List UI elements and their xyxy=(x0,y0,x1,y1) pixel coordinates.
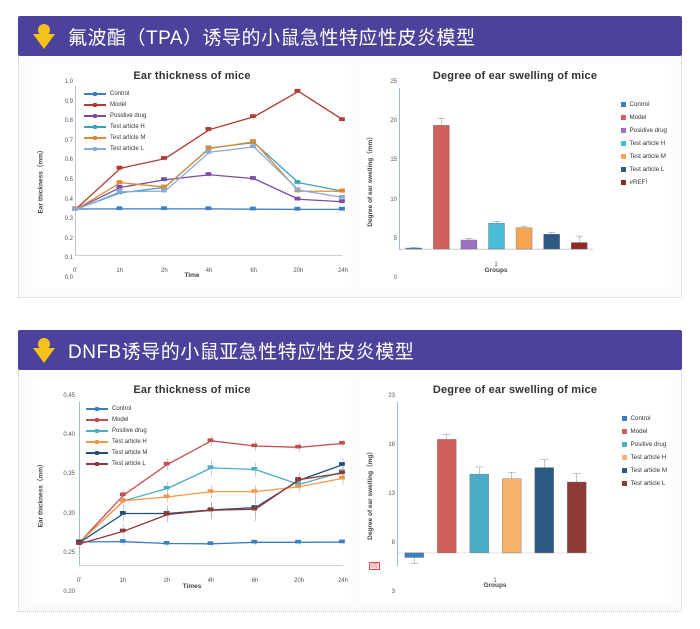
legend-label: Posidive drug xyxy=(630,127,668,134)
legend-color-swatch xyxy=(622,442,627,447)
legend-label: Control xyxy=(630,101,650,108)
legend-label: Positive drug xyxy=(112,428,147,434)
location-pin-icon xyxy=(32,23,56,49)
chart-title: Ear thickness of mice xyxy=(33,384,351,396)
section-dnfb-subacute: DNFB诱导的小鼠亚急性特应性皮炎模型 Ear thickness of mic… xyxy=(18,330,682,612)
legend-item: Control xyxy=(621,98,668,111)
x-axis-label: Time xyxy=(33,272,351,279)
legend-line-swatch xyxy=(86,408,108,410)
series-test-article-l xyxy=(76,467,345,546)
chart-tpa-line: Ear thickness of mice Ear thickness（mm） … xyxy=(33,64,351,289)
chart-legend: ControlModelPositive drugTest article HT… xyxy=(622,412,667,490)
bar-model xyxy=(437,434,456,553)
section-tpa-acute: 氟波酯（TPA）诱导的小鼠急性特应性皮炎模型 Ear thickness of … xyxy=(18,16,682,298)
chart-legend: ControlModelPositive drugTest article HT… xyxy=(86,403,147,469)
legend-label: Test article H xyxy=(110,124,145,130)
legend-label: Model xyxy=(630,114,647,121)
legend-item: Test article H xyxy=(86,436,147,447)
legend-color-swatch xyxy=(621,128,626,133)
chart-tpa-bar: Degree of ear swelling of mice Degree of… xyxy=(359,64,671,289)
legend-item: Model xyxy=(622,425,667,438)
legend-color-swatch xyxy=(621,154,626,159)
x-axis-label: Groups xyxy=(399,267,593,274)
chart-dnfb-bar: Degree of ear swelling of mice Degree of… xyxy=(359,378,671,603)
legend-item: Control xyxy=(84,88,146,99)
y-axis-ticks: 0.00.10.20.30.40.50.60.70.80.91.0 xyxy=(47,82,73,278)
chart-legend: ControlModelPosidive drugTest article HT… xyxy=(84,88,146,154)
chart-title: Degree of ear swelling of mice xyxy=(359,384,671,396)
legend-item: #REF! xyxy=(621,176,668,189)
legend-line-swatch xyxy=(84,126,106,128)
y-tick-label: 1.0 xyxy=(65,79,73,85)
page-root: 氟波酯（TPA）诱导的小鼠急性特应性皮炎模型 Ear thickness of … xyxy=(0,0,700,629)
plot-area: ControlModelPositive drugTest article HT… xyxy=(79,402,343,566)
plot-area: ControlModelPosidive drugTest article HT… xyxy=(75,86,343,256)
section-panel: Ear thickness of mice Ear thickness（mm） … xyxy=(18,370,682,612)
legend-label: Test article L xyxy=(631,480,666,487)
legend-color-swatch xyxy=(622,429,627,434)
legend-label: Model xyxy=(631,428,648,435)
legend-color-swatch xyxy=(622,455,627,460)
y-tick-label: 0.6 xyxy=(65,157,73,163)
legend-item: Test article L xyxy=(621,163,668,176)
bar-control xyxy=(405,553,424,563)
plot-area xyxy=(399,88,593,250)
legend-item: Control xyxy=(622,412,667,425)
plot-area xyxy=(397,402,593,566)
legend-item: Test article M xyxy=(621,150,668,163)
legend-label: Test article M xyxy=(110,135,145,141)
y-axis-label: Ear thickness（mm） xyxy=(31,82,47,278)
section-header: DNFB诱导的小鼠亚急性特应性皮炎模型 xyxy=(18,330,682,370)
legend-color-swatch xyxy=(621,115,626,120)
y-tick-label: 18 xyxy=(388,442,395,448)
legend-item: Test article M xyxy=(86,447,147,458)
legend-color-swatch xyxy=(621,102,626,107)
section-panel: Ear thickness of mice Ear thickness（mm） … xyxy=(18,56,682,298)
series-test-article-l xyxy=(72,144,345,211)
legend-line-swatch xyxy=(86,430,108,432)
legend-item: Test article L xyxy=(84,143,146,154)
legend-item: Positive drug xyxy=(622,438,667,451)
legend-line-swatch xyxy=(86,419,108,421)
legend-label: Test article H xyxy=(112,439,147,445)
legend-item: Posidive drug xyxy=(621,124,668,137)
chart-legend: ControlModelPosidive drugTest article HT… xyxy=(621,98,668,189)
legend-color-swatch xyxy=(622,481,627,486)
legend-item: Posidive drug xyxy=(84,110,146,121)
legend-label: Control xyxy=(110,91,129,97)
series-positive-drug xyxy=(76,460,345,544)
legend-item: Test article H xyxy=(84,121,146,132)
legend-label: Test article H xyxy=(631,454,667,461)
legend-label: Test article H xyxy=(630,140,666,147)
legend-line-swatch xyxy=(84,104,106,106)
y-tick-label: 0.40 xyxy=(63,432,75,438)
chart-title: Degree of ear swelling of mice xyxy=(359,70,671,82)
bar-posidive-drug xyxy=(461,238,477,249)
legend-line-swatch xyxy=(86,463,108,465)
legend-item: Model xyxy=(84,99,146,110)
section-title: 氟波酯（TPA）诱导的小鼠急性特应性皮炎模型 xyxy=(68,23,476,50)
legend-label: Model xyxy=(110,102,126,108)
legend-item: Test article H xyxy=(621,137,668,150)
legend-item: Test article L xyxy=(622,477,667,490)
legend-label: Model xyxy=(112,417,128,423)
bar-model xyxy=(433,118,449,249)
bar-test-article-m xyxy=(516,226,532,249)
legend-line-swatch xyxy=(84,115,106,117)
y-tick-label: 0.7 xyxy=(65,138,73,144)
legend-color-swatch xyxy=(621,167,626,172)
legend-line-swatch xyxy=(84,148,106,150)
bar-test-article-h xyxy=(502,472,521,553)
legend-item: Test article M xyxy=(622,464,667,477)
legend-item: Model xyxy=(621,111,668,124)
location-pin-icon xyxy=(32,337,56,363)
y-tick-label: 8 xyxy=(392,540,395,546)
y-axis-ticks: 0510152025 xyxy=(375,82,397,278)
y-tick-label: 0.1 xyxy=(65,255,73,261)
legend-line-swatch xyxy=(86,452,108,454)
y-tick-label: 25 xyxy=(390,79,397,85)
y-tick-label: 23 xyxy=(388,393,395,399)
y-tick-label: 0.25 xyxy=(63,550,75,556)
y-tick-label: 20 xyxy=(390,118,397,124)
bar-test-article-m xyxy=(535,460,554,553)
legend-label: Test article L xyxy=(110,146,144,152)
y-tick-label: 5 xyxy=(394,236,397,242)
legend-label: Posidive drug xyxy=(110,113,146,119)
y-tick-label: 0.8 xyxy=(65,118,73,124)
bar-test-article-l xyxy=(544,233,560,249)
legend-color-swatch xyxy=(622,468,627,473)
y-axis-ticks: 0.200.250.300.350.400.45 xyxy=(45,396,75,592)
x-axis-label: Groups xyxy=(397,582,593,589)
chart-title: Ear thickness of mice xyxy=(33,70,351,82)
legend-color-swatch xyxy=(621,180,626,185)
legend-label: Control xyxy=(112,406,131,412)
series-test-article-m xyxy=(76,458,345,544)
y-tick-label: 10 xyxy=(390,197,397,203)
legend-label: Test article M xyxy=(112,450,147,456)
legend-line-swatch xyxy=(84,137,106,139)
legend-label: #REF! xyxy=(630,179,648,186)
y-tick-label: 15 xyxy=(390,157,397,163)
legend-line-swatch xyxy=(86,441,108,443)
y-tick-label: 0.45 xyxy=(63,393,75,399)
legend-color-swatch xyxy=(621,141,626,146)
legend-label: Test article L xyxy=(112,461,146,467)
y-tick-label: 0.5 xyxy=(65,177,73,183)
y-tick-label: 0.2 xyxy=(65,236,73,242)
y-tick-label: 0.4 xyxy=(65,197,73,203)
legend-item: Model xyxy=(86,414,147,425)
series-control xyxy=(72,206,345,210)
legend-label: Control xyxy=(631,415,651,422)
section-title: DNFB诱导的小鼠亚急性特应性皮炎模型 xyxy=(68,337,414,364)
bar--ref- xyxy=(571,236,587,249)
legend-label: Positive drug xyxy=(631,441,667,448)
bar-test-article-l xyxy=(567,474,586,553)
y-tick-label: 0.30 xyxy=(63,511,75,517)
error-note-badge: (2) xyxy=(369,562,380,570)
legend-item: Test article L xyxy=(86,458,147,469)
legend-label: Test article M xyxy=(630,153,666,160)
legend-item: Positive drug xyxy=(86,425,147,436)
y-tick-label: 0 xyxy=(394,275,397,281)
bar-control xyxy=(406,247,422,249)
chart-dnfb-line: Ear thickness of mice Ear thickness（mm） … xyxy=(33,378,351,603)
legend-item: Test article M xyxy=(84,132,146,143)
section-header: 氟波酯（TPA）诱导的小鼠急性特应性皮炎模型 xyxy=(18,16,682,56)
x-axis-label: Times xyxy=(33,583,351,590)
legend-color-swatch xyxy=(622,416,627,421)
y-tick-label: 0.3 xyxy=(65,216,73,222)
bar-positive-drug xyxy=(470,467,489,553)
legend-line-swatch xyxy=(84,93,106,95)
legend-label: Test article M xyxy=(631,467,667,474)
y-tick-label: 0.9 xyxy=(65,99,73,105)
legend-label: Test article L xyxy=(630,166,665,173)
bar-test-article-h xyxy=(489,221,505,249)
y-tick-label: 13 xyxy=(388,491,395,497)
legend-item: Control xyxy=(86,403,147,414)
y-tick-label: 0.35 xyxy=(63,471,75,477)
series-control xyxy=(76,538,345,547)
legend-item: Test article H xyxy=(622,451,667,464)
y-tick-label: 3 xyxy=(392,589,395,595)
